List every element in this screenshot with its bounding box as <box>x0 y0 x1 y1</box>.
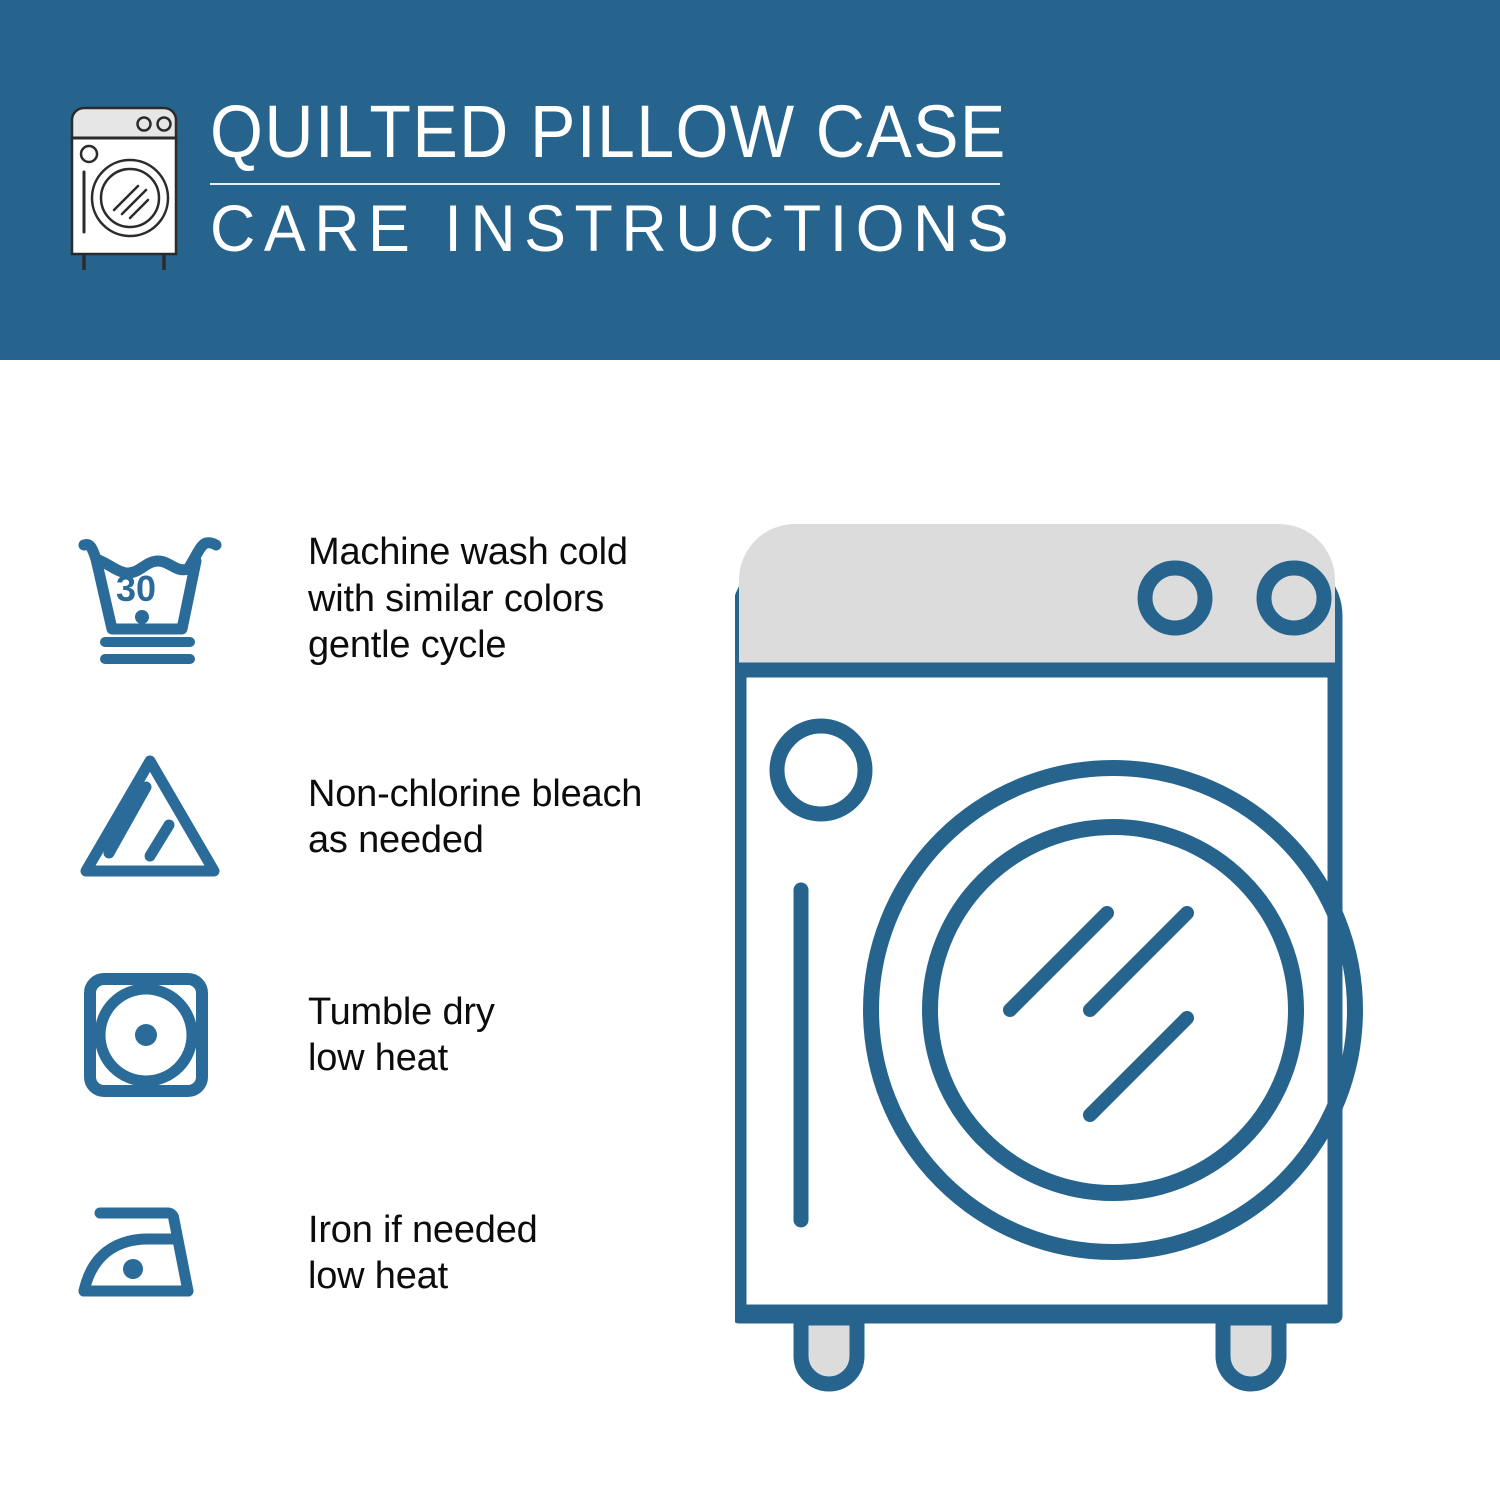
wash-tub-30-icon: 30 <box>70 529 240 669</box>
front-load-washing-machine-illustration <box>735 500 1445 1420</box>
page-title: QUILTED PILLOW CASE <box>210 96 1007 169</box>
page-subtitle: CARE INSTRUCTIONS <box>210 195 1033 261</box>
svg-text:30: 30 <box>116 568 156 609</box>
care-instruction-text: Non-chlorine bleach as needed <box>308 771 642 864</box>
control-panel <box>739 524 1335 670</box>
care-instruction-text: Iron if needed low heat <box>308 1207 538 1300</box>
title-divider <box>210 183 1000 185</box>
care-instruction-list: 30 Machine wash cold with similar colors… <box>70 490 710 1362</box>
knob <box>1145 568 1205 628</box>
header-titles: QUILTED PILLOW CASE CARE INSTRUCTIONS <box>210 96 1076 261</box>
non-chlorine-bleach-triangle-icon <box>70 747 240 887</box>
care-instruction-text: Machine wash cold with similar colors ge… <box>308 529 628 668</box>
list-item: Iron if needed low heat <box>70 1144 710 1362</box>
list-item: 30 Machine wash cold with similar colors… <box>70 490 710 708</box>
list-item: Non-chlorine bleach as needed <box>70 708 710 926</box>
main-content: 30 Machine wash cold with similar colors… <box>0 360 1500 1500</box>
iron-low-heat-icon <box>70 1183 240 1323</box>
washing-machine-icon <box>60 102 188 274</box>
leg <box>1223 1318 1279 1384</box>
header-banner: QUILTED PILLOW CASE CARE INSTRUCTIONS <box>0 0 1500 360</box>
care-instruction-text: Tumble dry low heat <box>308 989 495 1082</box>
list-item: Tumble dry low heat <box>70 926 710 1144</box>
leg <box>801 1318 857 1384</box>
header-content: QUILTED PILLOW CASE CARE INSTRUCTIONS <box>60 96 1076 274</box>
knob <box>1264 568 1324 628</box>
tumble-dry-low-icon <box>70 965 240 1105</box>
